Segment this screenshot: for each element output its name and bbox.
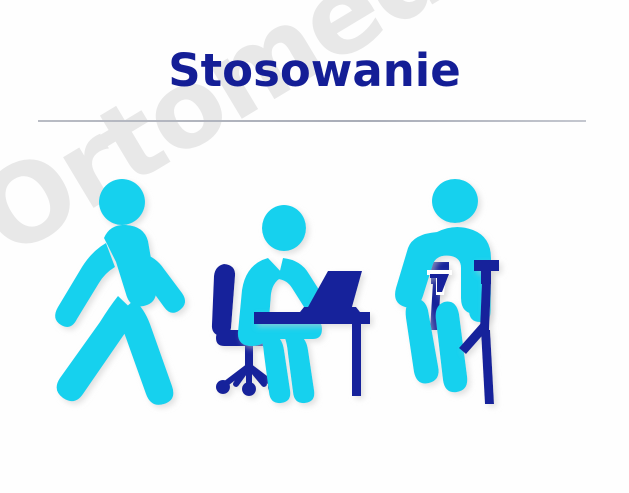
chair-backrest xyxy=(212,264,235,336)
laptop-base xyxy=(300,307,360,312)
chair-caster-left xyxy=(216,380,230,394)
crutches-person-figure xyxy=(395,179,491,392)
desk-top xyxy=(254,312,370,324)
title-divider xyxy=(38,120,586,122)
slide-canvas: Ortomedico.pl xyxy=(0,0,629,493)
page-title: Stosowanie xyxy=(0,44,629,97)
walking-person-head xyxy=(99,179,145,225)
seated-person-shin-back xyxy=(260,334,290,403)
seated-person-head xyxy=(262,205,306,251)
person-with-crutches-group xyxy=(395,179,499,404)
crutch-front-lower-shaft xyxy=(481,330,494,404)
walking-person-figure xyxy=(55,179,185,405)
chair-caster-center xyxy=(242,382,256,396)
seated-person-group xyxy=(212,205,370,403)
walking-person-front-leg xyxy=(116,300,173,405)
crutches-person-head xyxy=(432,179,478,223)
desk-leg xyxy=(352,324,361,396)
